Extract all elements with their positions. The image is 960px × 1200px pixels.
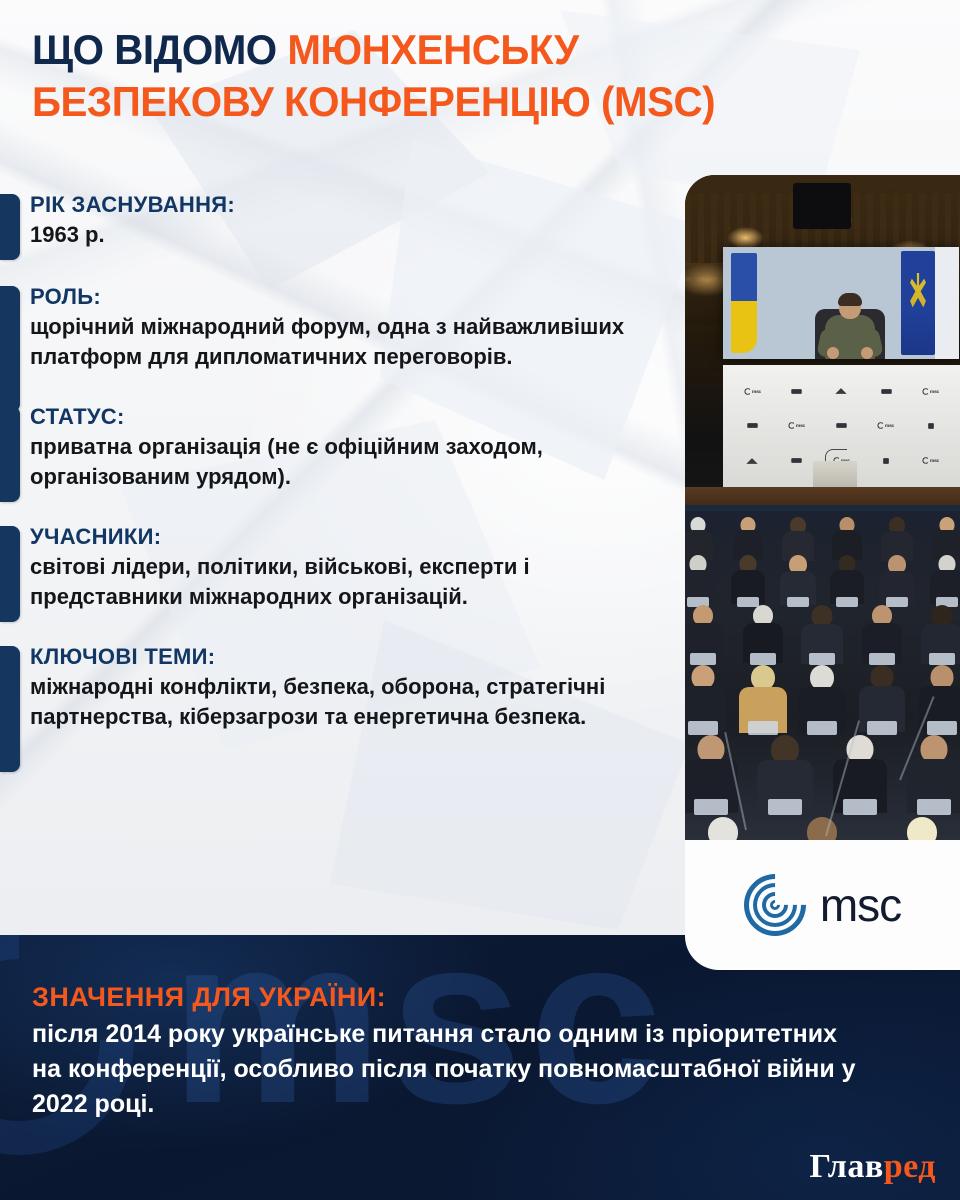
- band-heading: ЗНАЧЕННЯ ДЛЯ УКРАЇНИ:: [32, 979, 928, 1015]
- item-bullet-marker: [0, 646, 20, 772]
- sponsor-bar-icon: [747, 424, 757, 429]
- list-item-heading: РОЛЬ:: [30, 282, 672, 312]
- list-item: КЛЮЧОВІ ТЕМИ: міжнародні конфлікти, безп…: [0, 642, 672, 732]
- msc-logo-card: msc: [685, 840, 960, 970]
- projection-screen: [723, 247, 959, 359]
- title-accent-text: МЮНХЕНСЬКУ: [287, 26, 578, 73]
- conference-photo: msc msc msc msc msc msc: [685, 175, 960, 840]
- msc-mini-logo-icon: msc: [789, 423, 806, 430]
- ukraine-flag: [731, 253, 757, 353]
- msc-mini-logo-icon: msc: [922, 388, 939, 395]
- msc-mini-logo-icon: msc: [878, 423, 895, 430]
- list-item: УЧАСНИКИ: світові лідери, політики, війс…: [0, 522, 672, 612]
- list-item-body: світові лідери, політики, військові, екс…: [30, 552, 670, 612]
- msc-wordmark: msc: [820, 882, 901, 928]
- msc-arcs-icon: [744, 874, 806, 936]
- audience-row: [685, 605, 960, 659]
- sponsor-triangle-icon: [836, 388, 847, 394]
- item-bullet-marker: [0, 286, 20, 412]
- msc-mini-logo-icon: msc: [744, 388, 761, 395]
- ceiling-speaker: [793, 183, 851, 229]
- sponsor-bar-icon: [836, 424, 846, 429]
- list-item-heading: СТАТУС:: [30, 402, 672, 432]
- list-item-heading: РІК ЗАСНУВАННЯ:: [30, 190, 672, 220]
- list-item: РІК ЗАСНУВАННЯ: 1963 р.: [0, 190, 672, 250]
- list-item-body: щорічний міжнародний форум, одна з найва…: [30, 312, 670, 372]
- speaker-figure: [819, 295, 881, 359]
- list-item: СТАТУС: приватна організація (не є офіці…: [0, 402, 672, 492]
- item-bullet-marker: [0, 406, 20, 502]
- sponsor-bar-icon: [792, 389, 802, 394]
- page-title: ЩО ВІДОМО МЮНХЕНСЬКУ БЕЗПЕКОВУ КОНФЕРЕНЦ…: [32, 24, 932, 128]
- msc-mini-logo-icon: msc: [922, 457, 939, 464]
- list-item-heading: УЧАСНИКИ:: [30, 522, 672, 552]
- audience-row: [685, 665, 960, 729]
- speaker-hair: [838, 293, 862, 306]
- sponsor-bar-icon: [881, 389, 891, 394]
- sponsor-square-icon: [883, 458, 889, 464]
- list-item-body: міжнародні конфлікти, безпека, оборона, …: [30, 672, 670, 732]
- band-text-block: ЗНАЧЕННЯ ДЛЯ УКРАЇНИ: після 2014 року ук…: [32, 979, 928, 1122]
- list-item-body: приватна організація (не є офіційним зах…: [30, 432, 670, 492]
- title-line-1: ЩО ВІДОМО МЮНХЕНСЬКУ: [32, 24, 896, 76]
- sponsor-triangle-icon: [747, 458, 758, 464]
- audience-row: [685, 517, 960, 557]
- brand-part-two: ред: [884, 1148, 936, 1185]
- item-bullet-marker: [0, 526, 20, 622]
- item-bullet-marker: [0, 194, 20, 260]
- title-line-2: БЕЗПЕКОВУ КОНФЕРЕНЦІЮ (MSC): [32, 76, 896, 128]
- list-item-body: 1963 р.: [30, 220, 670, 250]
- sponsor-bar-icon: [792, 458, 802, 463]
- speaker-hand-left: [827, 347, 839, 359]
- list-item: РОЛЬ: щорічний міжнародний форум, одна з…: [0, 282, 672, 372]
- audience-row: [685, 555, 960, 601]
- band-body-text: після 2014 року українське питання стало…: [32, 1017, 862, 1122]
- title-plain-text: ЩО ВІДОМО: [32, 26, 287, 73]
- audience-seating: [685, 511, 960, 840]
- sponsor-square-icon: [928, 423, 934, 429]
- screen-right-panel: [935, 247, 959, 359]
- audience-row: [685, 817, 960, 837]
- brand-part-one: Глав: [810, 1148, 884, 1185]
- brand-logo[interactable]: Главред: [810, 1148, 937, 1186]
- list-item-heading: КЛЮЧОВІ ТЕМИ:: [30, 642, 672, 672]
- presidential-standard-flag: [901, 251, 935, 355]
- significance-band: msc ЗНАЧЕННЯ ДЛЯ УКРАЇНИ: після 2014 рок…: [0, 935, 960, 1200]
- facts-list: РІК ЗАСНУВАННЯ: 1963 р. РОЛЬ: щорічний м…: [0, 190, 672, 758]
- speaker-hand-right: [861, 347, 873, 359]
- infographic-poster: ЩО ВІДОМО МЮНХЕНСЬКУ БЕЗПЕКОВУ КОНФЕРЕНЦ…: [0, 0, 960, 1200]
